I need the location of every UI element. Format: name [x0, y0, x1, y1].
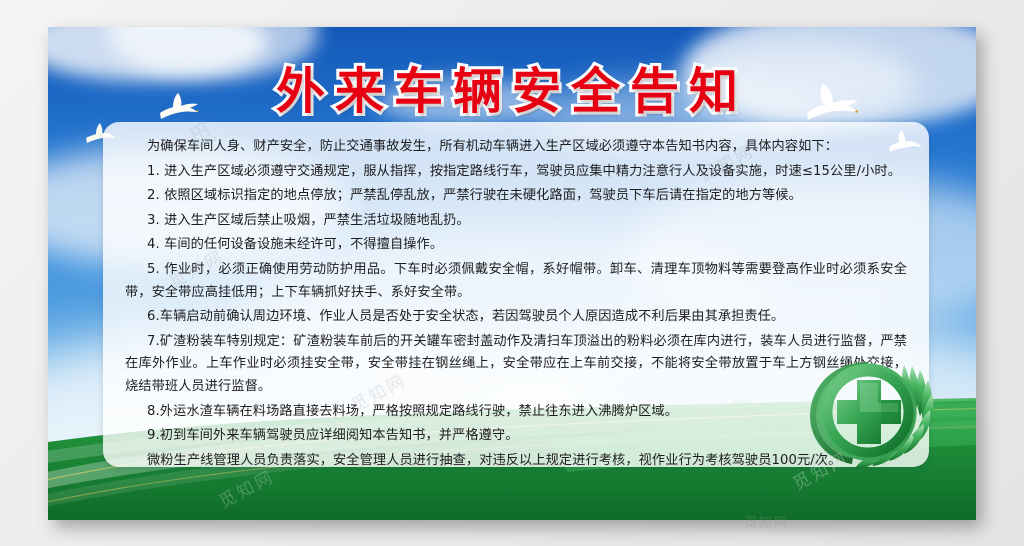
- cross-shadow: [881, 400, 901, 424]
- intro-paragraph: 为确保车间人身、财产安全，防止交通事故发生，所有机动车辆进入生产区域必须遵守本告…: [125, 136, 907, 159]
- safety-cross-wreath-logo: [802, 354, 942, 474]
- poster-title: 外来车辆安全告知: [276, 52, 748, 123]
- rule-item: 9.初到车间外来车辆驾驶员应详细阅知本告知书，并严格遵守。: [125, 425, 907, 448]
- rule-item: 4. 车间的任何设备设施未经许可，不得擅自操作。: [125, 234, 907, 257]
- rule-item: 3. 进入生产区域后禁止吸烟，严禁生活垃圾随地乱扔。: [125, 210, 907, 233]
- rule-item: 7.矿渣粉装车特别规定：矿渣粉装车前后的开关罐车密封盖动作及清扫车顶溢出的粉料必…: [125, 331, 907, 399]
- image-canvas: 外来车辆安全告知: [0, 0, 1024, 546]
- safety-notice-poster: 外来车辆安全告知: [48, 27, 976, 520]
- footer-paragraph: 微粉生产线管理人员负责落实，安全管理人员进行抽查，对违反以上规定进行考核，视作业…: [125, 450, 907, 473]
- rule-item: 2. 依照区域标识指定的地点停放；严禁乱停乱放，严禁行驶在未硬化路面，驾驶员下车…: [125, 185, 907, 208]
- poster-title-wrapper: 外来车辆安全告知: [48, 52, 976, 123]
- rule-item: 5. 作业时，必须正确使用劳动防护用品。下车时必须佩戴安全帽，系好帽带。卸车、清…: [125, 259, 907, 304]
- rule-item: 1. 进入生产区域必须遵守交通规定，服从指挥，按指定路线行车，驾驶员应集中精力注…: [125, 161, 907, 184]
- rule-item: 6.车辆启动前确认周边环境、作业人员是否处于安全状态，若因驾驶员个人原因造成不利…: [125, 306, 907, 329]
- rule-item: 8.外运水渣车辆在料场路直接去料场，严格按照规定路线行驶，禁止往东进入沸腾炉区域…: [125, 401, 907, 424]
